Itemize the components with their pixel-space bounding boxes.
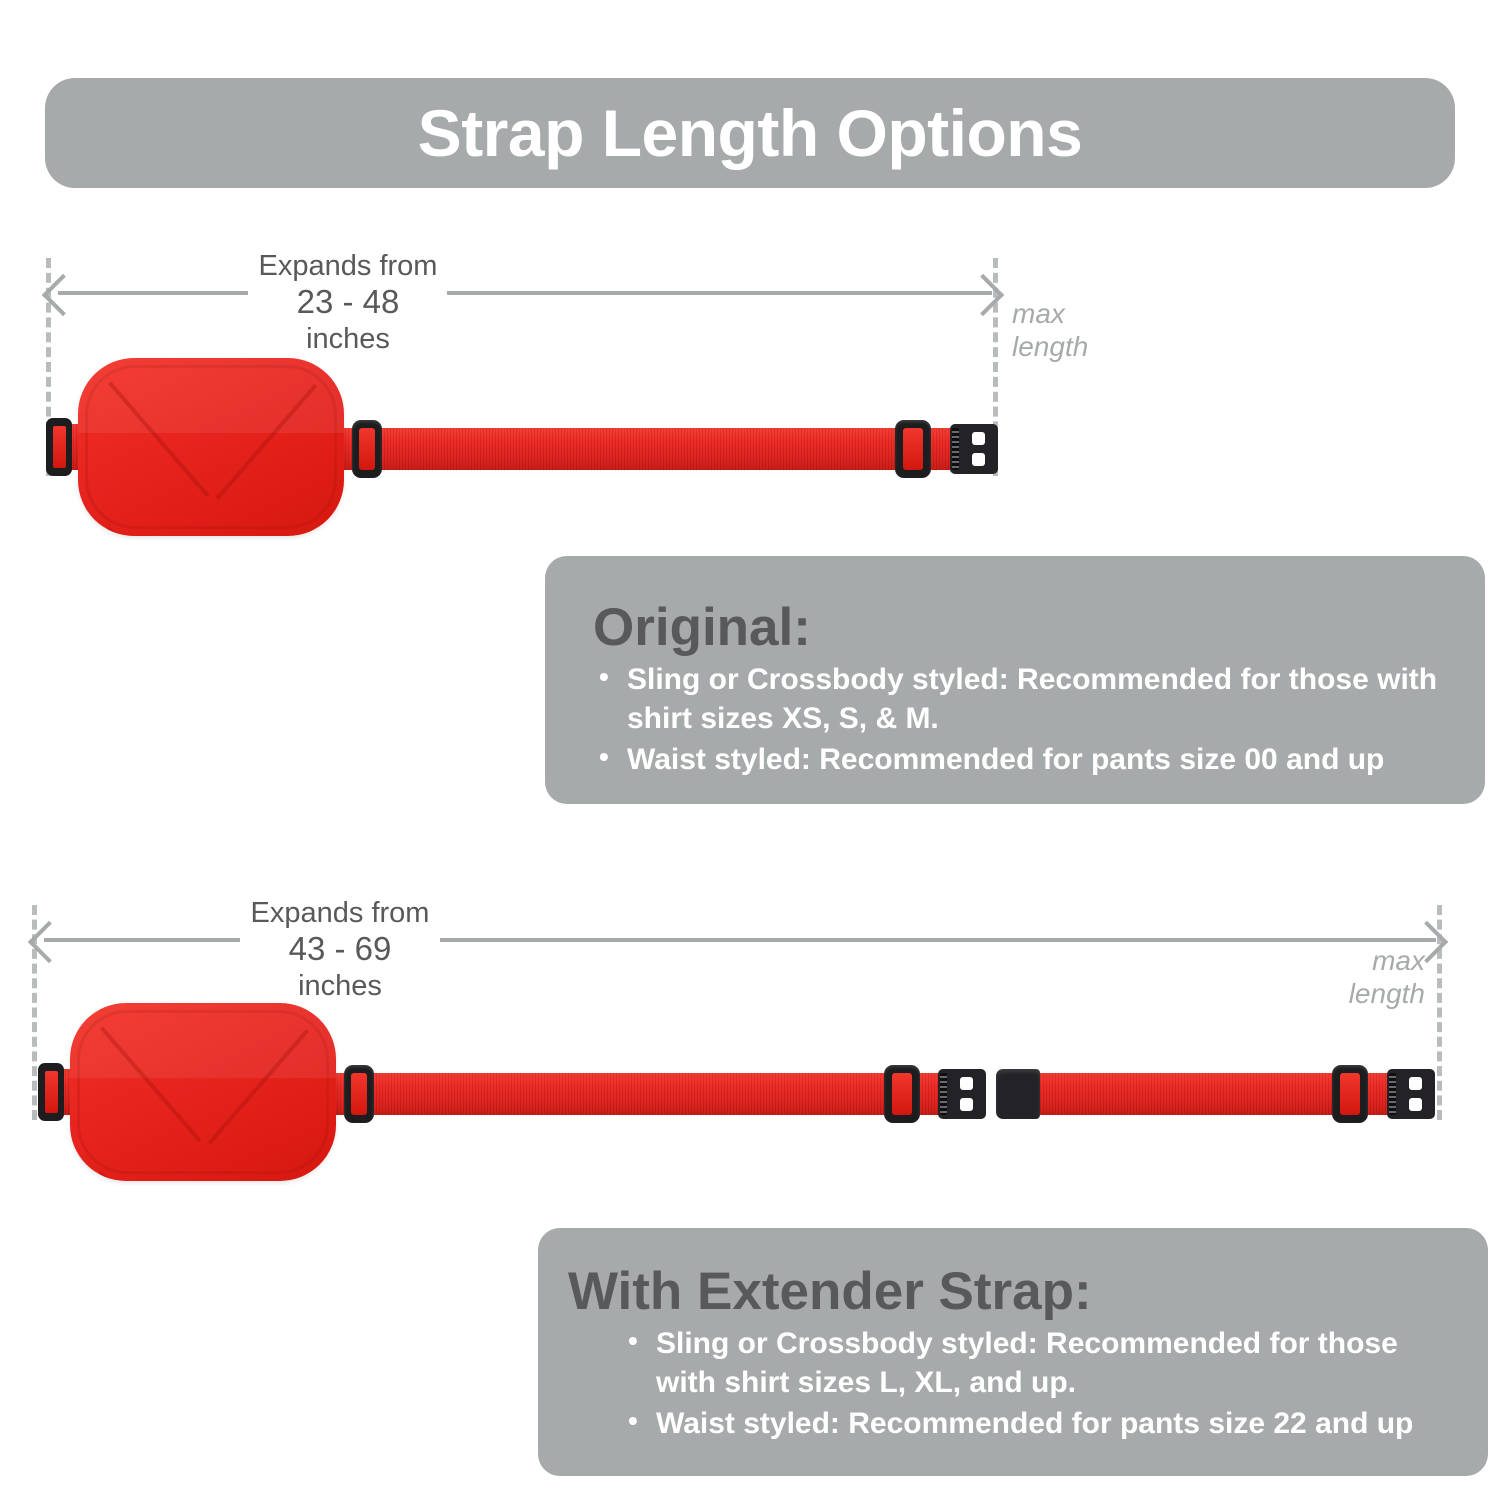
strap-webbing-main-extender [322, 1073, 942, 1115]
expand-label-range: 23 - 48 [248, 283, 448, 322]
page-title: Strap Length Options [418, 100, 1083, 166]
sling-bag-body-original [78, 358, 344, 536]
max-length-line2: length [1012, 330, 1088, 363]
buckle-ridges-original [952, 428, 959, 470]
expand-label-line1: Expands from [248, 249, 448, 283]
dimension-line-right-extender [440, 938, 1436, 942]
description-card-extender: With Extender Strap: Sling or Crossbody … [538, 1228, 1488, 1476]
side-release-buckle-original[interactable] [950, 424, 998, 474]
description-heading-original: Original: [593, 600, 1451, 656]
strap-webbing-original [330, 428, 955, 470]
tri-glide-slider-end-original[interactable] [895, 420, 931, 478]
infographic-page: Strap Length Options Expands from 23 - 4… [0, 0, 1500, 1500]
bullet-item: Waist styled: Recommended for pants size… [593, 740, 1451, 779]
max-length-label-extender: max length [1280, 944, 1425, 1010]
description-bullets-extender: Sling or Crossbody styled: Recommended f… [568, 1324, 1458, 1443]
dimension-line-right-original [447, 291, 992, 295]
side-release-buckle-end-extender[interactable] [1387, 1069, 1435, 1119]
buckle-hole-bottom-end-extender [1409, 1098, 1421, 1111]
expand-label-units: inches [248, 322, 448, 356]
tri-glide-slider-mid-extender[interactable] [884, 1065, 920, 1123]
expand-label-units: inches [240, 969, 440, 1003]
buckle-hole-top-end-extender [1409, 1077, 1421, 1090]
side-release-buckle-mid-female-extender[interactable] [938, 1069, 986, 1119]
d-ring-left-original[interactable] [46, 418, 72, 476]
description-bullets-original: Sling or Crossbody styled: Recommended f… [593, 660, 1451, 779]
buckle-hole-bottom-original [972, 453, 984, 466]
bullet-item: Waist styled: Recommended for pants size… [622, 1404, 1458, 1443]
expand-label-original: Expands from 23 - 48 inches [248, 249, 448, 356]
max-length-line1: max [1012, 297, 1088, 330]
dimension-line-left-original [58, 291, 248, 295]
buckle-hole-top-mid-extender [960, 1077, 972, 1090]
description-card-original: Original: Sling or Crossbody styled: Rec… [545, 556, 1485, 804]
buckle-ridges-mid-extender [940, 1073, 947, 1115]
tri-glide-slider-end-extender[interactable] [1332, 1065, 1368, 1123]
buckle-hole-bottom-mid-extender [960, 1098, 972, 1111]
dimension-line-left-extender [44, 938, 240, 942]
max-length-line1: max [1280, 944, 1425, 977]
max-length-line2: length [1280, 977, 1425, 1010]
buckle-hole-top-original [972, 432, 984, 445]
max-length-label-original: max length [1012, 297, 1088, 363]
expand-label-extender: Expands from 43 - 69 inches [240, 896, 440, 1003]
bullet-item: Sling or Crossbody styled: Recommended f… [593, 660, 1451, 738]
tri-glide-slider-bag-original[interactable] [352, 420, 382, 478]
sling-bag-body-extender [70, 1003, 336, 1181]
expand-label-range: 43 - 69 [240, 930, 440, 969]
page-title-banner: Strap Length Options [45, 78, 1455, 188]
description-heading-extender: With Extender Strap: [568, 1264, 1458, 1320]
side-release-buckle-mid-male-extender[interactable] [996, 1069, 1040, 1119]
expand-label-line1: Expands from [240, 896, 440, 930]
tri-glide-slider-bag-extender[interactable] [344, 1065, 374, 1123]
d-ring-left-extender[interactable] [38, 1063, 64, 1121]
buckle-ridges-end-extender [1389, 1073, 1396, 1115]
bullet-item: Sling or Crossbody styled: Recommended f… [622, 1324, 1458, 1402]
